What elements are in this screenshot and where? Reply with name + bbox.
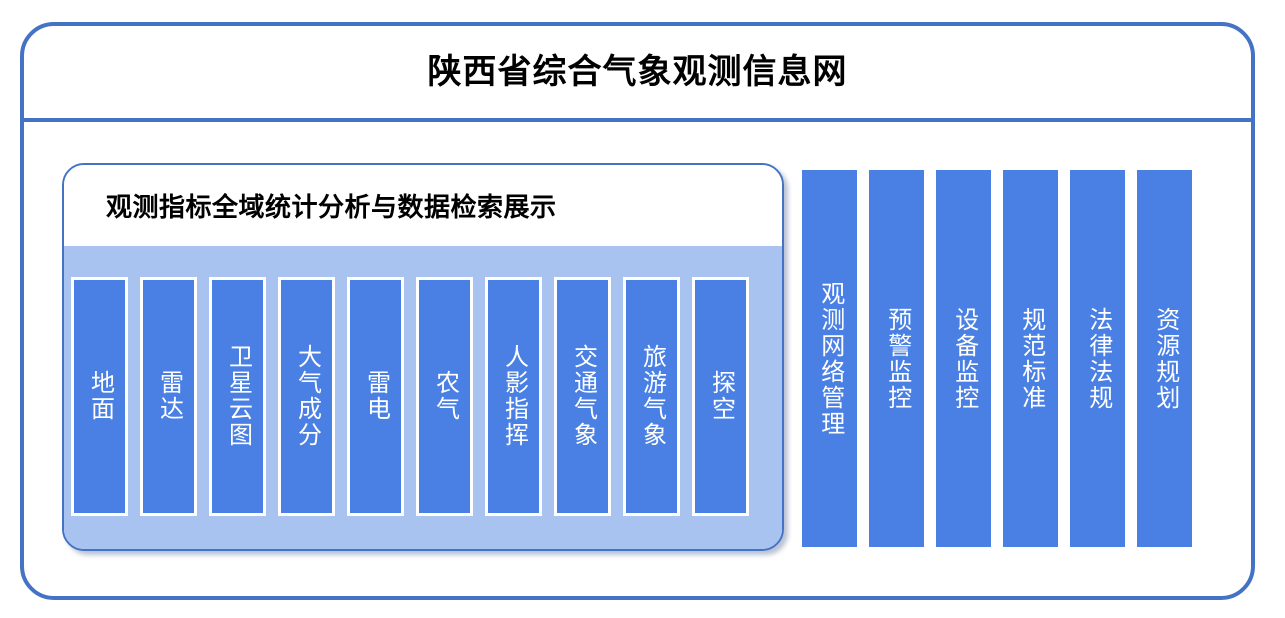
observation-index-panel: 观测指标全域统计分析与数据检索展示 地面 雷达 卫星云图 大气成分 雷电 bbox=[62, 163, 784, 551]
category-box-label: 雷达 bbox=[156, 370, 182, 422]
support-module-label: 资源规划 bbox=[1151, 307, 1177, 411]
support-module-box[interactable]: 观测网络管理 bbox=[802, 170, 857, 547]
category-box-label: 卫星云图 bbox=[225, 344, 251, 448]
support-module-label: 预警监控 bbox=[883, 307, 909, 411]
support-module-column: 观测网络管理 预警监控 设备监控 规范标准 法律法规 资源规划 bbox=[802, 170, 1235, 547]
category-box-label: 地面 bbox=[87, 370, 113, 422]
diagram-title-bar: 陕西省综合气象观测信息网 bbox=[24, 26, 1251, 122]
panel-title: 观测指标全域统计分析与数据检索展示 bbox=[106, 187, 557, 224]
category-box-label: 交通气象 bbox=[570, 344, 596, 448]
diagram-outer-frame: 陕西省综合气象观测信息网 观测指标全域统计分析与数据检索展示 地面 雷达 卫星云… bbox=[20, 22, 1255, 600]
category-box[interactable]: 地面 bbox=[71, 277, 128, 516]
category-box[interactable]: 卫星云图 bbox=[209, 277, 266, 516]
category-box-label: 雷电 bbox=[363, 370, 389, 422]
category-box-label: 大气成分 bbox=[294, 344, 320, 448]
support-module-box[interactable]: 设备监控 bbox=[936, 170, 991, 547]
category-box-label: 探空 bbox=[708, 370, 734, 422]
support-module-label: 法律法规 bbox=[1084, 307, 1110, 411]
panel-body: 地面 雷达 卫星云图 大气成分 雷电 农气 人影指挥 bbox=[64, 246, 782, 549]
category-box-grid: 地面 雷达 卫星云图 大气成分 雷电 农气 人影指挥 bbox=[71, 277, 749, 516]
support-module-box[interactable]: 预警监控 bbox=[869, 170, 924, 547]
category-box[interactable]: 雷电 bbox=[347, 277, 404, 516]
category-box[interactable]: 交通气象 bbox=[554, 277, 611, 516]
category-box-label: 旅游气象 bbox=[639, 344, 665, 448]
category-box-label: 农气 bbox=[432, 370, 458, 422]
category-box[interactable]: 探空 bbox=[692, 277, 749, 516]
support-module-box[interactable]: 资源规划 bbox=[1137, 170, 1192, 547]
panel-header: 观测指标全域统计分析与数据检索展示 bbox=[64, 165, 782, 246]
support-module-label: 规范标准 bbox=[1017, 307, 1043, 411]
support-module-box[interactable]: 规范标准 bbox=[1003, 170, 1058, 547]
category-box-label: 人影指挥 bbox=[501, 344, 527, 448]
category-box[interactable]: 农气 bbox=[416, 277, 473, 516]
category-box[interactable]: 旅游气象 bbox=[623, 277, 680, 516]
support-module-label: 设备监控 bbox=[950, 307, 976, 411]
page-title: 陕西省综合气象观测信息网 bbox=[428, 55, 848, 89]
category-box[interactable]: 大气成分 bbox=[278, 277, 335, 516]
support-module-label: 观测网络管理 bbox=[816, 281, 842, 437]
category-box[interactable]: 雷达 bbox=[140, 277, 197, 516]
support-module-box[interactable]: 法律法规 bbox=[1070, 170, 1125, 547]
category-box[interactable]: 人影指挥 bbox=[485, 277, 542, 516]
